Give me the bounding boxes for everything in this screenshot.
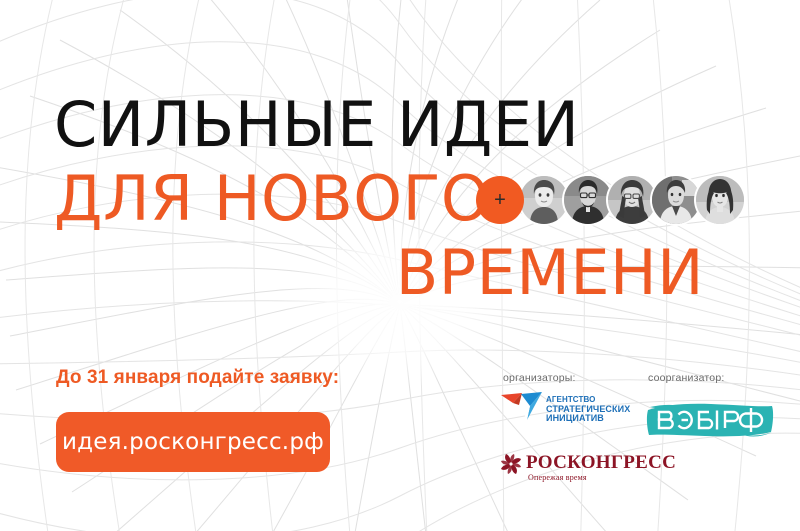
avatar[interactable]	[652, 176, 700, 224]
apply-site-button[interactable]: идея.росконгресс.рф	[56, 412, 330, 472]
asi-arrow-mark	[500, 390, 544, 422]
add-speaker-plus-badge[interactable]: +	[476, 176, 524, 224]
veb-rf-logo[interactable]	[645, 398, 775, 442]
headline-line-3: ВРЕМЕНИ	[54, 236, 714, 310]
veb-rf-brush-mark	[645, 398, 775, 442]
roscongress-pinwheel-icon	[500, 453, 522, 475]
plus-icon: +	[494, 190, 506, 210]
asi-word-3: ИНИЦИАТИВ	[546, 414, 630, 424]
roscongress-wordmark: РОСКОНГРЕСС	[526, 452, 676, 474]
asi-wordmark: АГЕНТСТВО СТРАТЕГИЧЕСКИХ ИНИЦИАТИВ	[546, 395, 630, 424]
coorganizer-caption: соорганизатор:	[648, 372, 725, 384]
asi-logo[interactable]: АГЕНТСТВО СТРАТЕГИЧЕСКИХ ИНИЦИАТИВ	[500, 390, 630, 436]
avatar[interactable]	[564, 176, 612, 224]
roscongress-tagline: Опережая время	[528, 473, 587, 482]
apply-site-button-label: идея.росконгресс.рф	[62, 429, 324, 455]
avatar[interactable]	[520, 176, 568, 224]
roscongress-logo[interactable]: РОСКОНГРЕСС Опережая время	[500, 452, 640, 486]
avatar[interactable]	[696, 176, 744, 224]
avatar[interactable]	[608, 176, 656, 224]
promo-banner: СИЛЬНЫЕ ИДЕИ ДЛЯ НОВОГО ВРЕМЕНИ +	[0, 0, 800, 531]
cta-deadline-label: До 31 января подайте заявку:	[56, 367, 339, 389]
organizers-caption: организаторы:	[503, 372, 576, 384]
partners-section: организаторы: соорганизатор: АГЕНТСТВО С…	[500, 370, 780, 500]
speakers-avatar-row: +	[476, 176, 740, 224]
headline-line-1: СИЛЬНЫЕ ИДЕИ	[54, 88, 714, 162]
